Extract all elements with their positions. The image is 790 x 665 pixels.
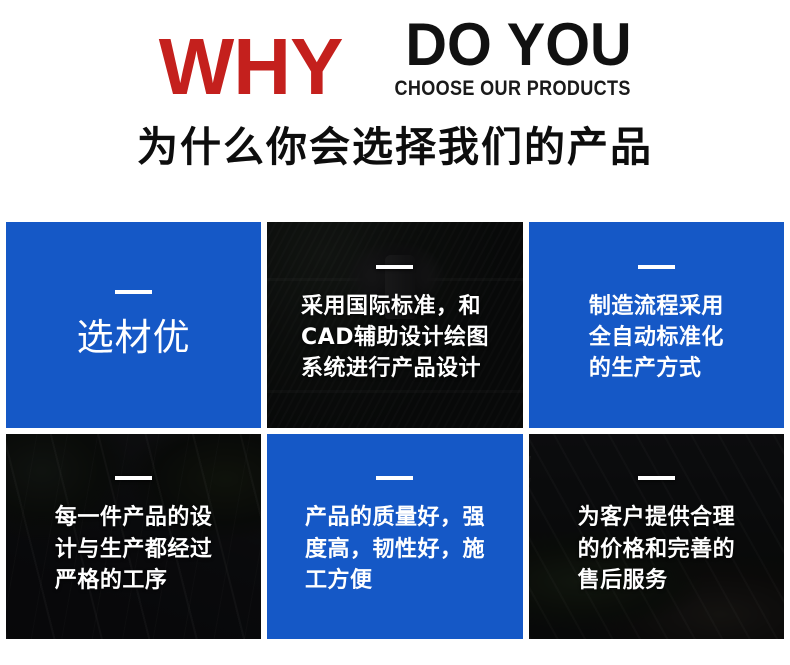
feature-card-6-text: 为客户提供合理 的价格和完善的 售后服务: [578, 502, 736, 596]
divider-dash-icon: [638, 265, 675, 269]
feature-card-3: 制造流程采用 全自动标准化 的生产方式: [529, 222, 784, 428]
feature-card-2: 采用国际标准，和 CAD辅助设计绘图 系统进行产品设计: [267, 222, 522, 428]
feature-grid: 选材优 采用国际标准，和 CAD辅助设计绘图 系统进行产品设计 制造流程采用 全…: [6, 222, 784, 639]
feature-card-6: 为客户提供合理 的价格和完善的 售后服务: [529, 434, 784, 640]
feature-card-3-text: 制造流程采用 全自动标准化 的生产方式: [589, 291, 724, 385]
headline-right-stack: DO YOU CHOOSE OUR PRODUCTS: [356, 16, 631, 102]
feature-card-2-text: 采用国际标准，和 CAD辅助设计绘图 系统进行产品设计: [301, 291, 489, 385]
feature-card-1: 选材优: [6, 222, 261, 428]
divider-dash-icon: [376, 265, 413, 269]
divider-dash-icon: [376, 476, 413, 480]
feature-card-5: 产品的质量好，强 度高，韧性好，施 工方便: [267, 434, 522, 640]
feature-card-5-text: 产品的质量好，强 度高，韧性好，施 工方便: [305, 502, 485, 596]
divider-dash-icon: [638, 476, 675, 480]
headline-choose-our-products: CHOOSE OUR PRODUCTS: [395, 77, 631, 100]
headline-why: WHY: [159, 32, 343, 102]
feature-card-1-text: 选材优: [77, 316, 191, 360]
feature-card-4-text: 每一件产品的设 计与生产都经过 严格的工序: [55, 502, 213, 596]
divider-dash-icon: [115, 290, 152, 294]
promo-banner: WHY DO YOU CHOOSE OUR PRODUCTS 为什么你会选择我们…: [0, 0, 790, 665]
divider-dash-icon: [115, 476, 152, 480]
headline-row: WHY DO YOU CHOOSE OUR PRODUCTS: [0, 16, 790, 102]
banner-header: WHY DO YOU CHOOSE OUR PRODUCTS 为什么你会选择我们…: [0, 0, 790, 205]
page-title: 为什么你会选择我们的产品: [0, 125, 790, 170]
headline-do-you: DO YOU: [405, 16, 631, 73]
feature-card-4: 每一件产品的设 计与生产都经过 严格的工序: [6, 434, 261, 640]
